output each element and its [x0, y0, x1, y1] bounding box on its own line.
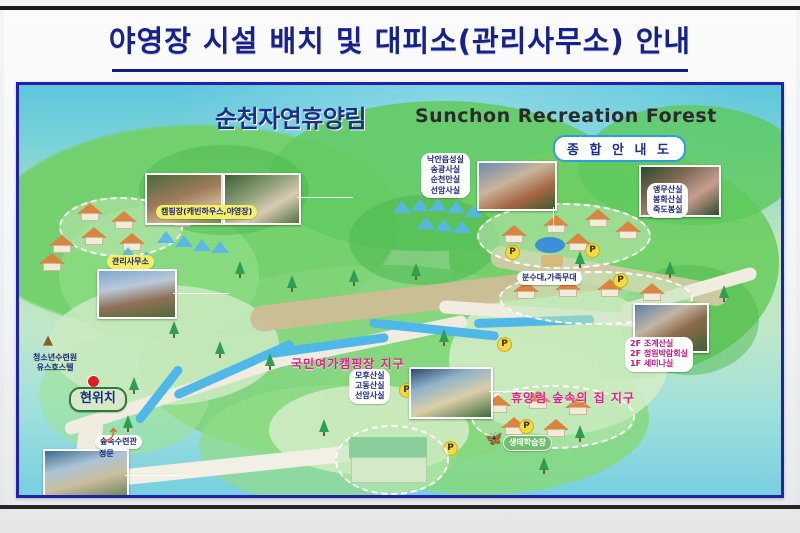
room-name: 모후산실: [355, 371, 384, 381]
cabin: [639, 283, 665, 301]
tent: [453, 221, 471, 233]
photo-forest-training-center: [43, 449, 129, 495]
floor-number: 2F: [630, 339, 641, 348]
label-rooms-north: 낙안읍성실 송광사실 순천만실 선암사실: [421, 153, 470, 198]
photo-rooms-south: [409, 367, 493, 419]
room-name: 송광사실: [427, 165, 464, 175]
cabin: [39, 253, 65, 271]
label-youth-hostel: 청소년수련원 유스호스텔: [33, 353, 77, 373]
leader-line-training: [125, 475, 185, 476]
tent: [193, 239, 211, 251]
tree-icon: [575, 425, 585, 438]
tree-icon: [665, 261, 675, 274]
label-fountain-stage: 분수대,가족무대: [517, 271, 582, 285]
tree-icon: [169, 321, 179, 334]
tree-icon: [719, 285, 729, 298]
floor-number: 1F: [630, 359, 641, 368]
board-bottom-edge: [0, 505, 800, 509]
tree-icon: [215, 341, 225, 354]
parking-marker: P: [505, 245, 520, 260]
floor-row: 1F 세미나실: [630, 359, 688, 369]
leader-line-camping: [297, 197, 353, 198]
map-frame: 순천자연휴양림 Sunchon Recreation Forest 종 합 안 …: [16, 82, 784, 498]
leader-line-rooms-south: [489, 391, 535, 392]
map-canvas: 순천자연휴양림 Sunchon Recreation Forest 종 합 안 …: [19, 85, 781, 495]
parking-marker: P: [613, 273, 628, 288]
tent: [157, 231, 175, 243]
sign-title: 야영장 시설 배치 및 대피소(관리사무소) 안내: [0, 18, 800, 60]
leader-line-rooms-north: [553, 207, 554, 229]
gate-arrow-icon: ⤴: [103, 425, 117, 445]
photo-management-office: [97, 269, 177, 319]
cabin: [501, 225, 527, 243]
fountain: [535, 237, 565, 253]
tree-icon: [319, 419, 329, 432]
tent: [175, 235, 193, 247]
cabin: [81, 227, 107, 245]
tree-icon: [575, 251, 585, 264]
cabin: [615, 221, 641, 239]
floor-row: 2F 조계산실: [630, 339, 688, 349]
parking-marker: P: [519, 419, 534, 434]
family-stage: [541, 255, 563, 267]
tent: [211, 241, 229, 253]
label-you-are-here: 현위치: [69, 387, 127, 412]
room-name: 봉화산실: [653, 195, 682, 205]
tent: [393, 201, 411, 213]
room-name: 선암사실: [355, 391, 384, 401]
tent: [417, 217, 435, 229]
room-name: 앵무산실: [653, 185, 682, 195]
label-rooms-east: 앵무산실 봉화산실 죽도봉실: [647, 183, 688, 218]
room-name: 낙안읍성실: [427, 155, 464, 165]
leader-line-office: [173, 293, 229, 294]
cabin: [543, 215, 569, 233]
floor-room: 조계산실: [644, 339, 673, 348]
tree-icon: [539, 457, 549, 470]
tent: [447, 201, 465, 213]
map-title-korean: 순천자연휴양림: [215, 99, 366, 134]
butterfly-icon: 🦋: [485, 431, 502, 447]
cabin: [543, 419, 569, 437]
cabin: [111, 211, 137, 229]
label-floor-list: 2F 조계산실 2F 정원박람회실 1F 세미나실: [625, 337, 693, 372]
tree-icon: [439, 329, 449, 342]
sign-title-container: 야영장 시설 배치 및 대피소(관리사무소) 안내: [0, 18, 800, 60]
youth-hostel-line: 청소년수련원: [33, 353, 77, 363]
signboard: 야영장 시설 배치 및 대피소(관리사무소) 안내: [0, 0, 800, 533]
tree-icon: [129, 377, 139, 390]
floor-row: 2F 정원박람회실: [630, 349, 688, 359]
room-name: 순천만실: [427, 175, 464, 185]
tent: [429, 199, 447, 211]
tree-icon: [265, 353, 275, 366]
tree-icon: [123, 415, 133, 428]
parking-marker: P: [585, 243, 600, 258]
parking-marker: P: [497, 337, 512, 352]
training-center-plot: [335, 425, 449, 495]
district-label-camping: 국민여가캠핑장 지구: [291, 355, 405, 372]
map-title-english: Sunchon Recreation Forest: [415, 105, 717, 127]
room-name: 고동산실: [355, 381, 384, 391]
tree-icon: [349, 269, 359, 282]
floor-room: 정원박람회실: [644, 349, 688, 358]
cabin: [77, 203, 103, 221]
cabin: [585, 209, 611, 227]
tree-icon: [235, 261, 245, 274]
floor-number: 2F: [630, 349, 641, 358]
tree-icon: [411, 263, 421, 276]
room-name: 선암사실: [427, 186, 464, 196]
tree-icon: [287, 275, 297, 288]
hostel-marker-icon: ▲: [43, 333, 53, 348]
room-name: 죽도봉실: [653, 205, 682, 215]
title-underline: [112, 69, 688, 72]
cabin: [49, 235, 75, 253]
tent: [411, 199, 429, 211]
label-rooms-south: 모후산실 고동산실 선암사실: [349, 369, 390, 404]
label-camping-ground: 캠핑장(캐빈하우스,야영장): [156, 205, 257, 219]
label-main-gate: 정문: [99, 449, 114, 459]
guide-map-badge: 종 합 안 내 도: [553, 135, 686, 162]
label-management-office: 관리사무소: [107, 255, 154, 269]
floor-room: 세미나실: [644, 359, 673, 368]
label-eco-learning: 생태학습장: [503, 435, 552, 451]
photo-rooms-north: [477, 161, 557, 211]
youth-hostel-line: 유스호스텔: [33, 363, 77, 373]
tent: [435, 219, 453, 231]
